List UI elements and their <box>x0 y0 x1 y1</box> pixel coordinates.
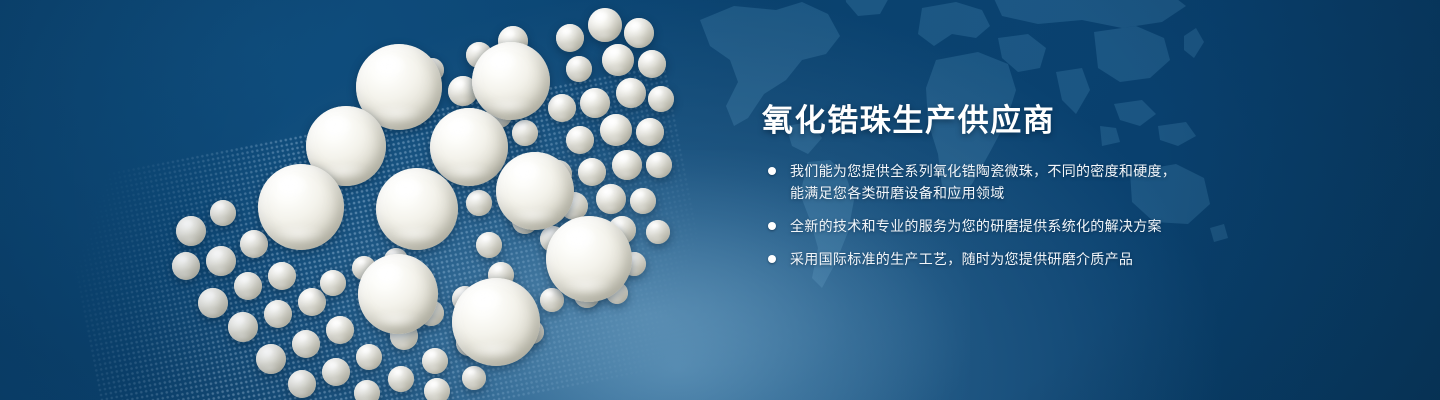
vignette-overlay <box>0 0 1440 400</box>
hero-banner: 氧化锆珠生产供应商 我们能为您提供全系列氧化锆陶瓷微珠，不同的密度和硬度， 能满… <box>0 0 1440 400</box>
